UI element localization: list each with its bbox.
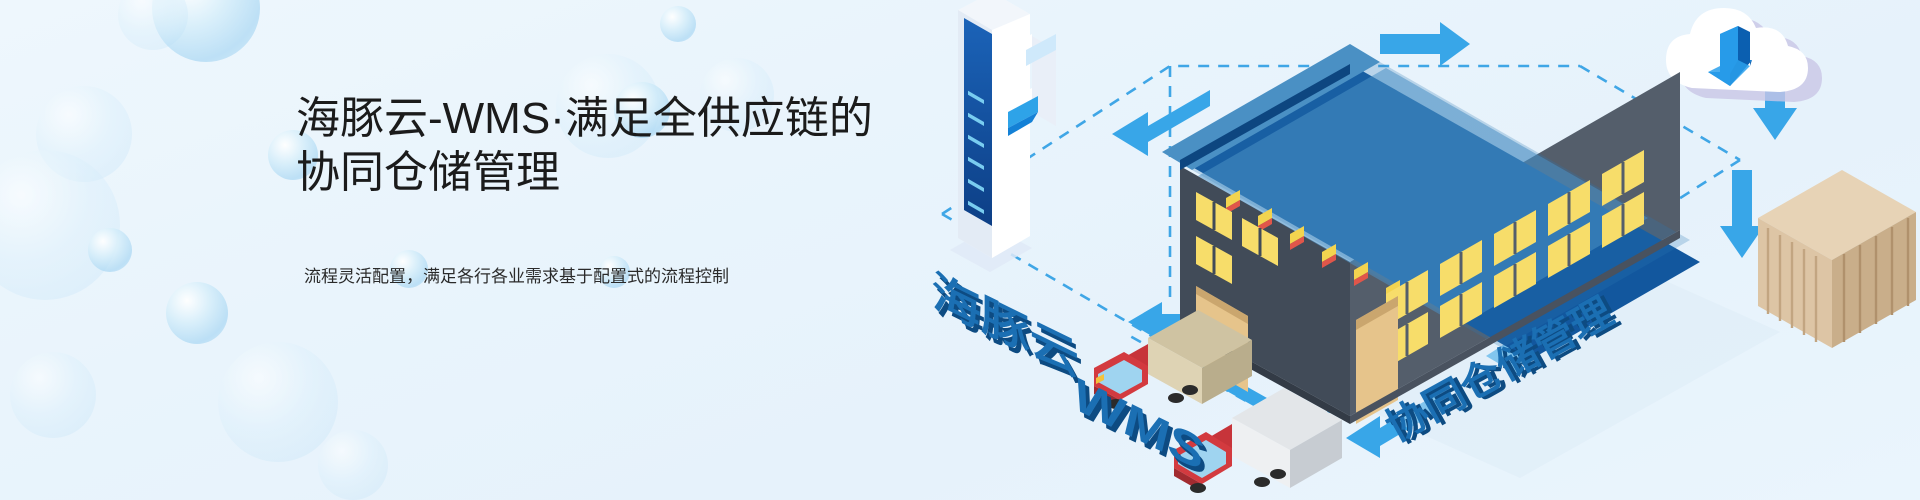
shipping-container-icon: [1758, 170, 1916, 348]
bubble-decor: [218, 342, 338, 462]
bubble-decor: [152, 0, 260, 62]
bubble-decor: [10, 352, 96, 438]
bubble-decor: [660, 6, 696, 42]
bubble-decor: [118, 0, 188, 50]
page-title: 海豚云-WMS·满足全供应链的 协同仓储管理: [296, 92, 916, 200]
bubble-decor: [166, 282, 228, 344]
bubble-decor: [318, 430, 388, 500]
cloud-download-icon: [1666, 8, 1822, 102]
bubble-decor: [0, 150, 120, 300]
hero-banner: 海豚云-WMS·满足全供应链的 协同仓储管理 流程灵活配置，满足各行各业需求基于…: [0, 0, 1920, 500]
server-rack-icon: [950, 0, 1056, 272]
bubble-decor: [36, 86, 132, 182]
hero-subtitle: 流程灵活配置，满足各行各业需求基于配置式的流程控制: [296, 264, 729, 290]
illustration-label-haitunyun: 海豚云 海豚云: [932, 265, 1083, 392]
hero-subtitle-wrap: 流程灵活配置，满足各行各业需求基于配置式的流程控制: [296, 264, 729, 290]
label-text: 海豚云: [932, 265, 1079, 387]
hero-copy: 海豚云-WMS·满足全供应链的 协同仓储管理: [296, 92, 916, 200]
warehouse-illustration: 海豚云 海豚云 WMS WMS 协同仓储管理 协同仓储管理: [880, 0, 1920, 500]
bubble-decor: [88, 228, 132, 272]
